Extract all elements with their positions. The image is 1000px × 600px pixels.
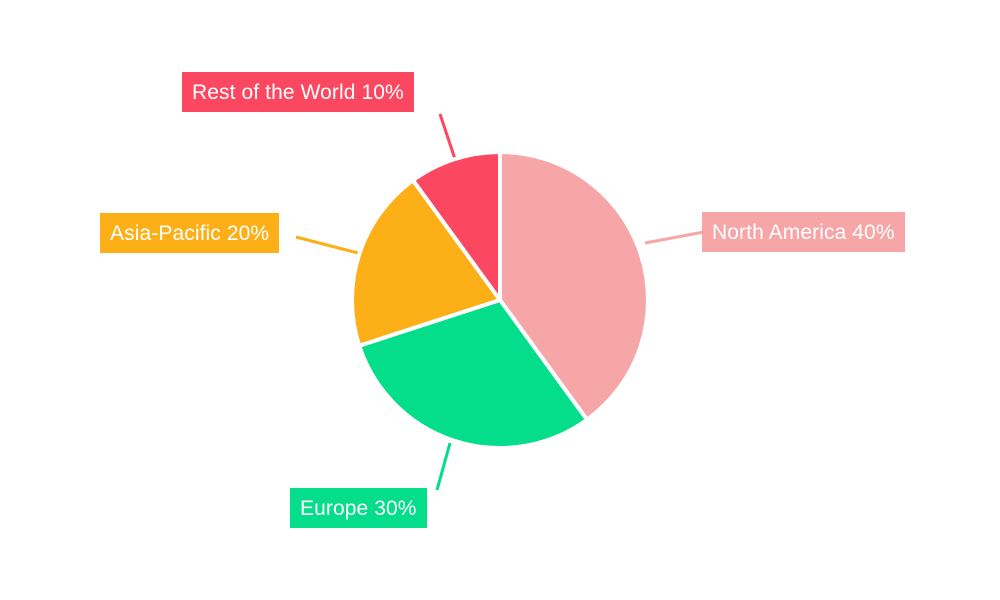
pie-chart-canvas — [0, 0, 1000, 600]
pie-label-asia-pacific-text: Asia-Pacific 20% — [110, 223, 269, 244]
leader-line-asia-pacific — [296, 237, 358, 253]
pie-label-rest-of-world[interactable]: Rest of the World 10% — [182, 72, 414, 112]
pie-label-rest-of-world-text: Rest of the World 10% — [192, 82, 404, 103]
pie-slices-group — [352, 152, 648, 448]
pie-label-north-america-text: North America 40% — [712, 222, 895, 243]
pie-label-north-america[interactable]: North America 40% — [702, 212, 905, 252]
pie-label-asia-pacific[interactable]: Asia-Pacific 20% — [100, 213, 279, 253]
pie-label-europe[interactable]: Europe 30% — [290, 488, 427, 528]
leader-line-europe — [437, 443, 450, 490]
leader-line-north-america — [645, 232, 704, 243]
leader-line-rest-of-world — [440, 114, 456, 162]
pie-chart-figure: North America 40% Europe 30% Asia-Pacifi… — [0, 0, 1000, 600]
pie-label-europe-text: Europe 30% — [300, 498, 417, 519]
